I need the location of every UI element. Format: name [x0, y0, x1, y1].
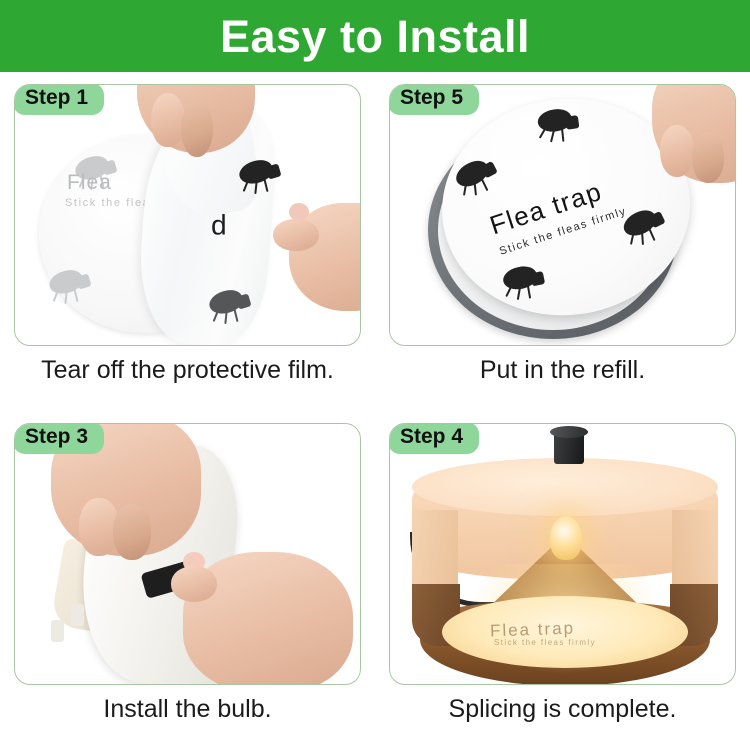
- step-caption-2: Put in the refill.: [375, 356, 750, 385]
- scene-insert-refill: Flea trap Stick the fleas firmly: [390, 85, 735, 345]
- page-title: Easy to Install: [220, 14, 530, 59]
- step-caption-4: Splicing is complete.: [375, 695, 750, 724]
- header-banner: Easy to Install: [0, 0, 750, 72]
- step-cell-3: Step 3 Install the bulb.: [0, 411, 375, 750]
- step-cell-2: Flea trap Stick the fleas firmly Step 5 …: [375, 72, 750, 411]
- lamp-top-face: [412, 458, 718, 516]
- step-caption-3: Install the bulb.: [0, 695, 375, 724]
- step-card-1: Flea Stick the flea: [14, 84, 361, 346]
- step-card-4: Flea trap Stick the fleas firmly Step 4: [389, 423, 736, 685]
- steps-grid: Flea Stick the flea: [0, 72, 750, 750]
- scene-assembled-lamp: Flea trap Stick the fleas firmly: [390, 424, 735, 684]
- step-cell-1: Flea Stick the flea: [0, 72, 375, 411]
- step-caption-1: Tear off the protective film.: [0, 356, 375, 385]
- step-card-3: Step 3: [14, 423, 361, 685]
- step-card-2: Flea trap Stick the fleas firmly Step 5: [389, 84, 736, 346]
- knob-cap: [550, 426, 588, 438]
- step-badge-4: Step 4: [389, 423, 479, 454]
- base-brand-subtitle: Stick the fleas firmly: [494, 638, 596, 647]
- step-badge-1: Step 1: [14, 84, 104, 115]
- disc-brand-subtitle: Stick the flea: [65, 197, 150, 209]
- lit-bulb: [550, 516, 582, 560]
- film-letter: p: [211, 213, 227, 245]
- hand-holding-cover: [183, 552, 353, 684]
- cover-prong: [51, 620, 64, 642]
- cover-prong: [71, 604, 84, 626]
- hand-placing-refill: [652, 85, 735, 183]
- disc-brand-title: Flea: [67, 171, 112, 195]
- hand-lower: [289, 203, 360, 311]
- step-badge-2: Step 5: [389, 84, 479, 115]
- step-cell-4: Flea trap Stick the fleas firmly Step 4 …: [375, 411, 750, 750]
- infographic-page: Easy to Install: [0, 0, 750, 750]
- scene-install-bulb: [15, 424, 360, 684]
- scene-peel-film: Flea Stick the flea: [15, 85, 360, 345]
- step-badge-3: Step 3: [14, 423, 104, 454]
